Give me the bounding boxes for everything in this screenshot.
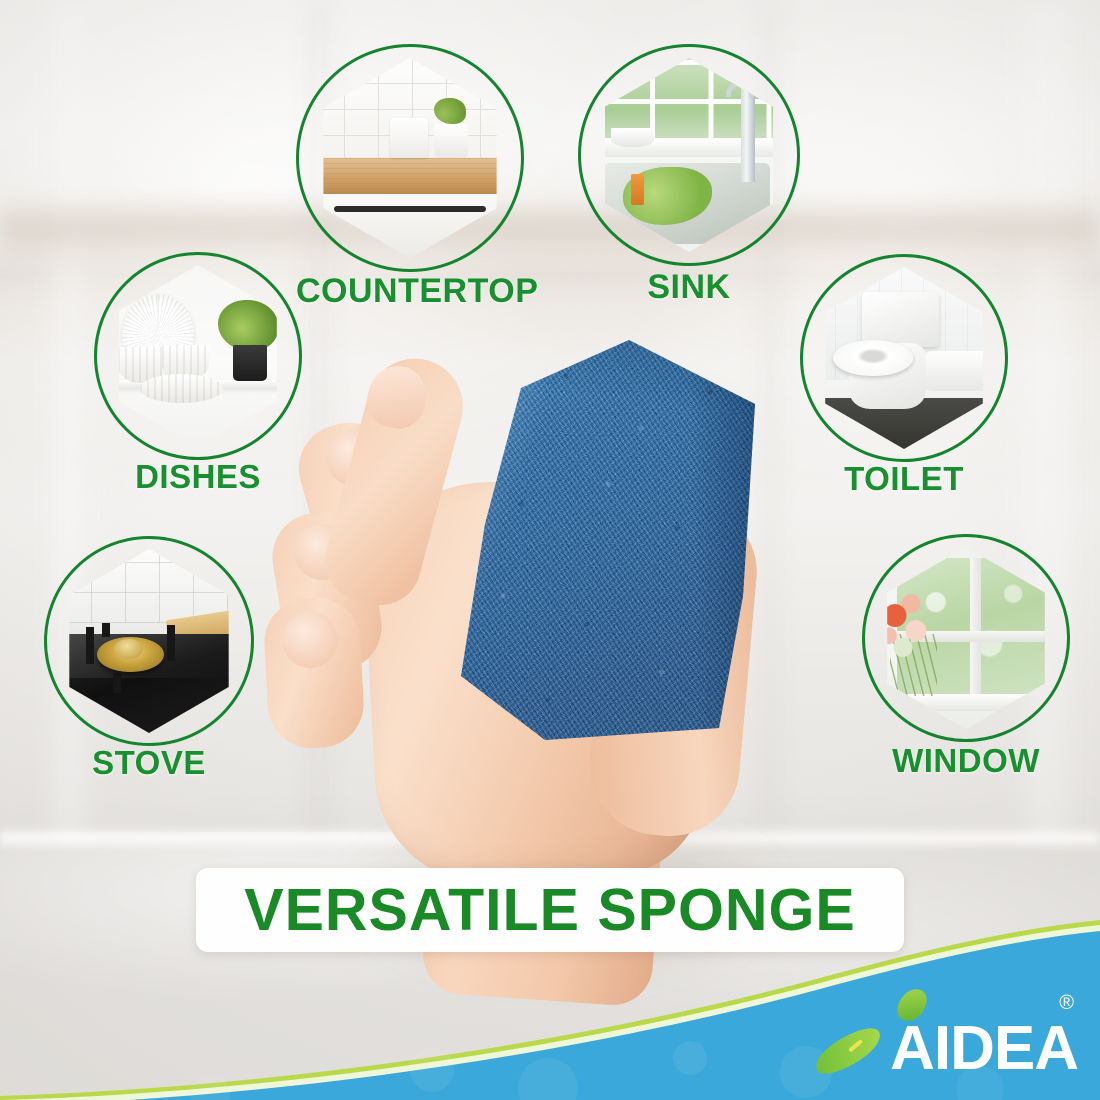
infographic-canvas: COUNTERTOP SINK DISHES	[0, 0, 1100, 1100]
badge-label-window: WINDOW	[854, 742, 1078, 780]
brand-logo[interactable]: AIDEA ®	[778, 994, 1078, 1078]
badge-label-countertop: COUNTERTOP	[296, 272, 524, 311]
badge-label-toilet: TOILET	[792, 460, 1016, 498]
badge-stove[interactable]	[44, 536, 254, 746]
sponge-shading	[455, 340, 755, 740]
hand-holding-sponge	[250, 330, 810, 950]
badge-toilet[interactable]	[800, 254, 1008, 462]
registered-mark: ®	[1059, 992, 1074, 1015]
fingernail	[282, 612, 338, 668]
footer-band: AIDEA ®	[0, 920, 1100, 1100]
badge-window[interactable]	[862, 534, 1070, 742]
badge-countertop[interactable]	[296, 44, 524, 272]
badge-label-stove: STOVE	[36, 744, 262, 782]
badge-label-sink: SINK	[578, 268, 800, 307]
badge-sink[interactable]	[578, 44, 800, 266]
